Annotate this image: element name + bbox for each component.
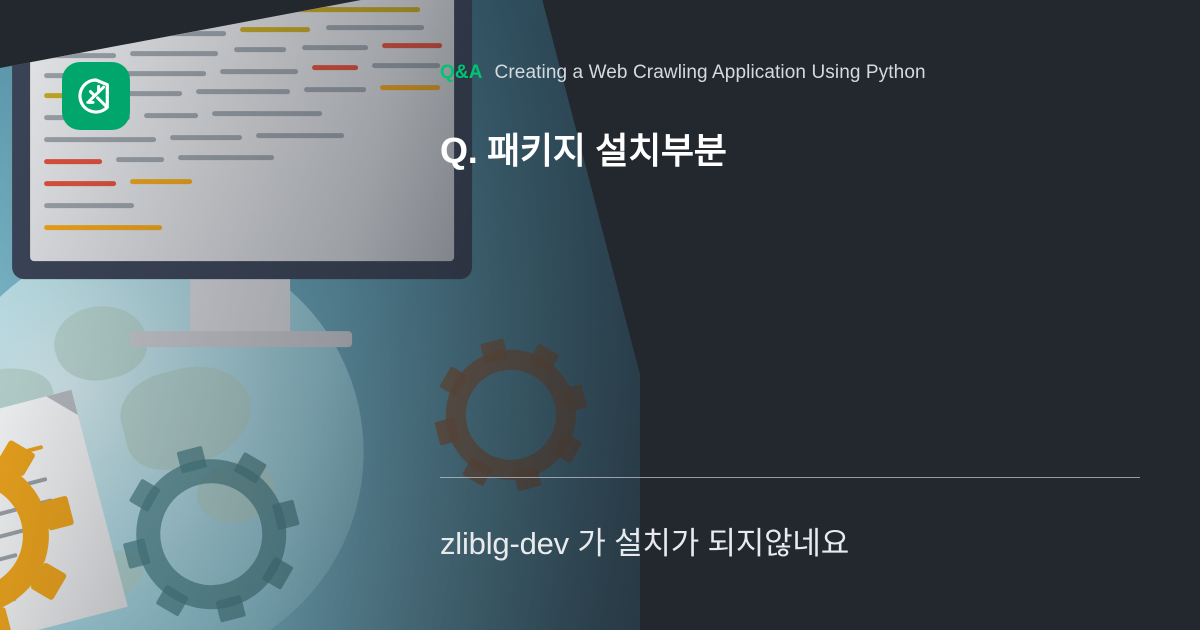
post-body: zliblg-dev 가 설치가 되지않네요: [440, 518, 849, 563]
monitor-graphic: [12, 0, 512, 329]
magnifier-gear-rim: [0, 409, 98, 630]
content-column: Q&A Creating a Web Crawling Application …: [440, 0, 1200, 630]
monitor-frame: [12, 0, 472, 279]
leaf-sprout-icon: [76, 76, 116, 116]
monitor-base: [130, 331, 352, 347]
monitor-screen: [30, 0, 454, 261]
share-card-canvas: Q&A Creating a Web Crawling Application …: [0, 0, 1200, 630]
course-title: Creating a Web Crawling Application Usin…: [495, 62, 926, 84]
course-kicker: Q&A Creating a Web Crawling Application …: [440, 62, 926, 84]
inflearn-logo[interactable]: [62, 62, 130, 130]
content-divider: [440, 477, 1140, 478]
qa-badge: Q&A: [440, 62, 483, 84]
monitor-neck: [190, 277, 290, 339]
post-title: Q. 패키지 설치부분: [440, 122, 727, 174]
